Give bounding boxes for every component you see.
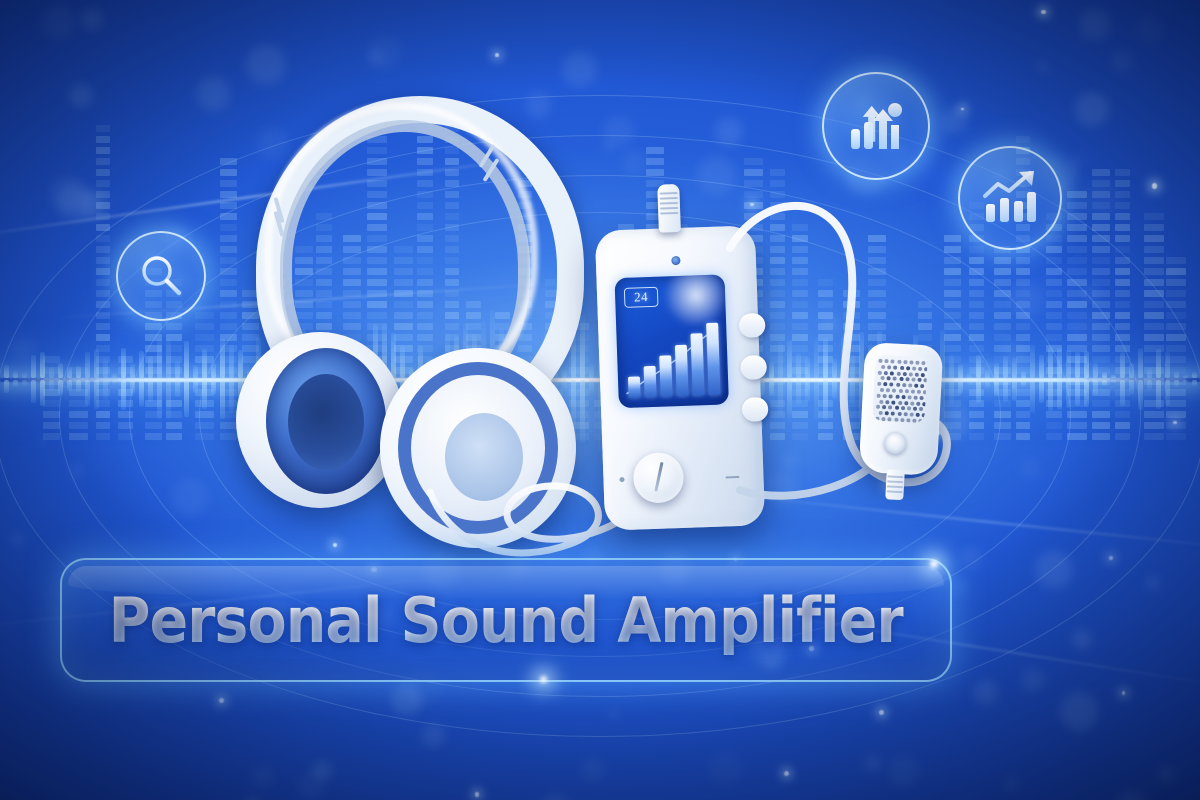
vignette-overlay xyxy=(0,0,1200,800)
poster-canvas: 24 xyxy=(0,0,1200,800)
